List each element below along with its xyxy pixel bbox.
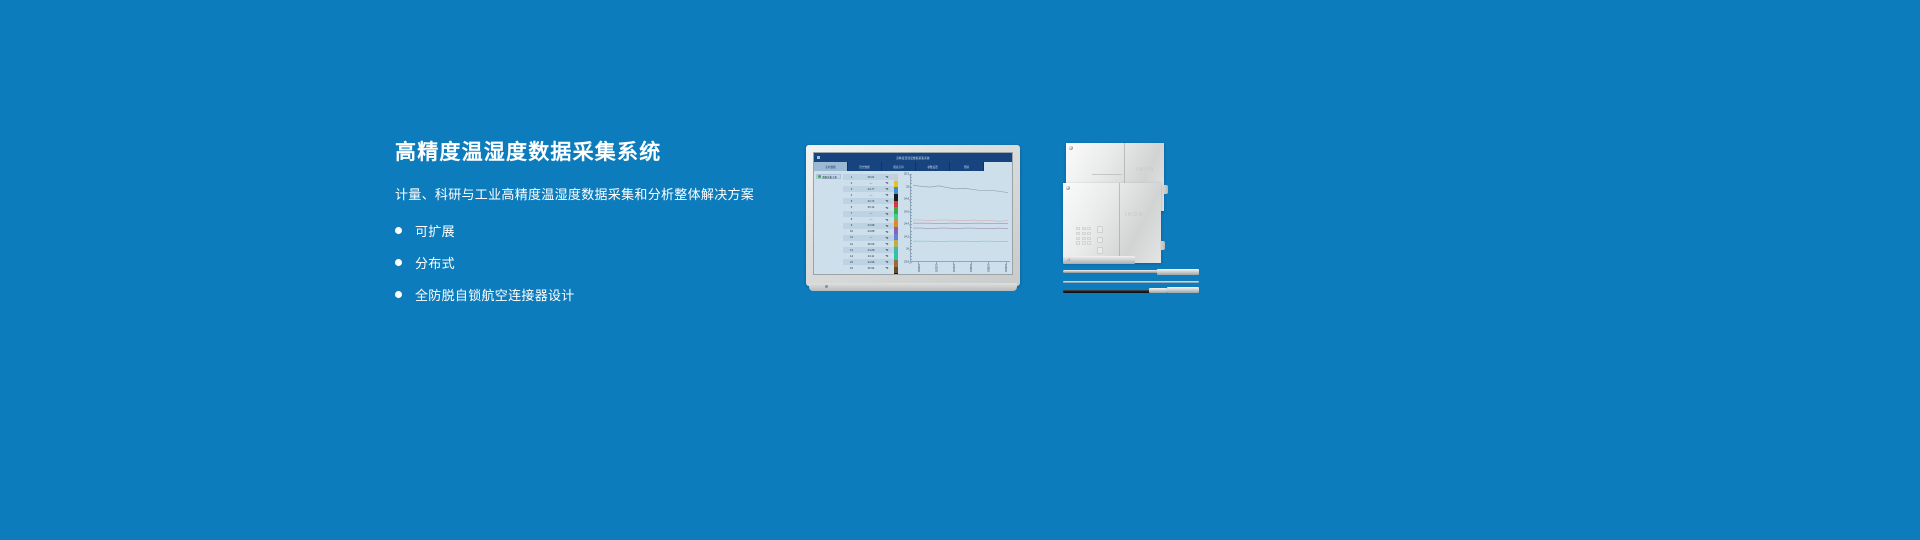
etch-line <box>1092 174 1122 175</box>
cell-value: 25.94 <box>860 267 882 270</box>
cell-channel: 11 <box>843 236 860 239</box>
cell-channel: 15 <box>843 261 860 264</box>
x-tick-label: 10:24:00 <box>952 264 955 272</box>
cell-value: --- <box>860 212 882 215</box>
keypad-key <box>1082 232 1086 235</box>
keypad-key <box>1076 241 1080 244</box>
probe-cable <box>1063 290 1153 293</box>
cell-unit: ℃ <box>882 187 892 191</box>
status-led-icon <box>818 175 821 178</box>
x-tick-label: 10:26:00 <box>969 264 972 272</box>
keypad-key <box>1087 227 1091 230</box>
mounting-plate <box>1063 256 1135 264</box>
cell-channel: 12 <box>843 243 860 246</box>
app-window-title: 高精度温湿度数据采集系统 <box>814 156 1012 160</box>
bullet-label: 分布式 <box>415 253 455 272</box>
sensor-probe-group <box>1063 256 1199 298</box>
screw-icon <box>1066 186 1070 190</box>
cell-channel: 6 <box>843 206 860 209</box>
monitor-screen: 高精度温湿度数据采集系统 实时数据 历史数据 报表打印 参数设置 帮助 数据采集… <box>813 152 1013 275</box>
monitor-bezel: 高精度温湿度数据采集系统 实时数据 历史数据 报表打印 参数设置 帮助 数据采集… <box>806 145 1020 286</box>
cell-value: 24.88 <box>860 230 882 233</box>
brand-label: INON <box>1136 167 1155 173</box>
monitor-base <box>809 283 1017 291</box>
connector-port <box>1163 185 1168 194</box>
cell-unit: ℃ <box>882 181 892 185</box>
cell-unit: ℃ <box>882 206 892 210</box>
tab-realtime-data[interactable]: 实时数据 <box>814 162 848 171</box>
hero-text-block: 高精度温湿度数据采集系统 计量、科研与工业高精度温湿度数据采集和分析整体解决方案… <box>395 140 795 318</box>
channel-data-table: 125.01℃2---℃324.77℃4---℃524.72℃625.14℃7-… <box>843 171 894 275</box>
x-tick-label: 10:20:00 <box>917 264 920 272</box>
y-tick-label: 25.2 <box>904 173 909 176</box>
cell-value: --- <box>860 236 882 239</box>
cell-channel: 4 <box>843 194 860 197</box>
port-slot <box>1097 237 1103 244</box>
y-tick-label: 24 <box>906 248 909 251</box>
keypad-key <box>1082 227 1086 230</box>
list-item: 全防脱自锁航空连接器设计 <box>395 286 795 303</box>
cell-channel: 9 <box>843 224 860 227</box>
panel-seam <box>1119 183 1120 263</box>
y-tick-label: 23.8 <box>904 261 909 264</box>
device-node[interactable]: 数据采集主机 <box>816 174 841 179</box>
cell-value: 25.14 <box>860 206 882 209</box>
tab-report-print[interactable]: 报表打印 <box>882 162 916 171</box>
y-tick-label: 25 <box>906 185 909 188</box>
bullet-dot-icon <box>395 259 402 266</box>
banner-stage: 高精度温湿度数据采集系统 计量、科研与工业高精度温湿度数据采集和分析整体解决方案… <box>0 0 1920 540</box>
cell-channel: 13 <box>843 249 860 252</box>
cell-channel: 10 <box>843 230 860 233</box>
chart-plot-area <box>911 174 1010 262</box>
cell-channel: 2 <box>843 182 860 185</box>
chart-line-ch6 <box>913 223 1008 224</box>
cell-unit: ℃ <box>882 218 892 222</box>
cell-channel: 14 <box>843 255 860 258</box>
acquisition-unit-front: INON <box>1063 183 1161 263</box>
cell-channel: 1 <box>843 176 860 179</box>
probe-ferrule <box>1149 288 1167 293</box>
x-tick-label: 10:22:00 <box>934 264 937 272</box>
x-tick-label: 10:28:00 <box>987 264 990 272</box>
probe-handle <box>1157 269 1199 275</box>
cell-unit: ℃ <box>882 212 892 216</box>
cell-channel: 8 <box>843 218 860 221</box>
cell-unit: ℃ <box>882 193 892 197</box>
cell-value: --- <box>860 218 882 221</box>
cell-channel: 3 <box>843 188 860 191</box>
x-tick-label: 10:30:00 <box>1004 264 1007 272</box>
cell-channel: 7 <box>843 212 860 215</box>
page-subtitle: 计量、科研与工业高精度温湿度数据采集和分析整体解决方案 <box>395 184 795 203</box>
power-led-icon <box>825 285 828 288</box>
probe-handle <box>1167 287 1199 293</box>
y-tick-label: 24.8 <box>904 198 909 201</box>
chart-series-svg <box>911 174 1010 261</box>
chart-line-ch1 <box>913 185 1008 192</box>
bullet-label: 可扩展 <box>415 221 455 240</box>
table-row[interactable]: 1625.94℃ <box>843 265 894 271</box>
keypad-key <box>1082 241 1086 244</box>
cell-value: --- <box>860 194 882 197</box>
tab-history-data[interactable]: 历史数据 <box>848 162 882 171</box>
port-slot <box>1097 247 1103 254</box>
bullet-dot-icon <box>395 291 402 298</box>
cell-value: 25.06 <box>860 243 882 246</box>
cell-value: 24.96 <box>860 261 882 264</box>
y-tick-label: 24.4 <box>904 223 909 226</box>
y-tick-label: 24.2 <box>904 235 909 238</box>
list-item: 分布式 <box>395 254 795 271</box>
cell-unit: ℃ <box>882 224 892 228</box>
app-tab-bar: 实时数据 历史数据 报表打印 参数设置 帮助 <box>814 162 1012 171</box>
keypad-key <box>1076 232 1080 235</box>
cell-unit: ℃ <box>882 254 892 258</box>
keypad-key <box>1082 237 1086 240</box>
brand-label: INON <box>1125 212 1144 218</box>
cell-value: 24.98 <box>860 224 882 227</box>
product-monitor: 高精度温湿度数据采集系统 实时数据 历史数据 报表打印 参数设置 帮助 数据采集… <box>806 145 1020 293</box>
keypad-key <box>1076 237 1080 240</box>
cell-unit: ℃ <box>882 230 892 234</box>
tab-help[interactable]: 帮助 <box>950 162 984 171</box>
list-item: 可扩展 <box>395 222 795 239</box>
cell-value: --- <box>860 182 882 185</box>
cell-value: 24.72 <box>860 200 882 203</box>
chart-line-ch12 <box>913 241 1008 242</box>
cell-unit: ℃ <box>882 199 892 203</box>
device-tree-panel: 数据采集主机 <box>814 171 843 275</box>
port-slot <box>1097 226 1103 233</box>
cell-value: 24.28 <box>860 249 882 252</box>
tab-bar-filler <box>984 162 1012 171</box>
keypad-key <box>1087 241 1091 244</box>
chart-y-axis: 25.22524.824.624.424.22423.8 <box>898 174 911 262</box>
cell-value: 25.01 <box>860 176 882 179</box>
chart-line-ch5 <box>913 220 1008 221</box>
keypad-key <box>1087 237 1091 240</box>
probe-rod <box>1063 270 1159 273</box>
bullet-label: 全防脱自锁航空连接器设计 <box>415 285 575 304</box>
trend-chart: 25.22524.824.624.424.22423.8 10:20:0010:… <box>898 174 1010 274</box>
keypad-grid <box>1076 227 1091 245</box>
bullet-dot-icon <box>395 227 402 234</box>
cell-unit: ℃ <box>882 260 892 264</box>
app-body: 数据采集主机 125.01℃2---℃324.77℃4---℃524.72℃62… <box>814 171 1012 275</box>
y-tick-label: 24.6 <box>904 210 909 213</box>
cell-channel: 5 <box>843 200 860 203</box>
cell-unit: ℃ <box>882 248 892 252</box>
port-column <box>1097 226 1103 254</box>
tab-parameter-settings[interactable]: 参数设置 <box>916 162 950 171</box>
cell-value: 24.77 <box>860 188 882 191</box>
keypad-key <box>1076 227 1080 230</box>
feature-bullet-list: 可扩展 分布式 全防脱自锁航空连接器设计 <box>395 222 795 303</box>
chart-x-axis: 10:20:0010:22:0010:24:0010:26:0010:28:00… <box>911 263 1010 274</box>
chart-line-ch9 <box>913 228 1008 229</box>
connector-port <box>1160 241 1165 250</box>
cell-unit: ℃ <box>882 236 892 240</box>
keypad-key <box>1087 232 1091 235</box>
cell-unit: ℃ <box>882 242 892 246</box>
screw-icon <box>1069 146 1073 150</box>
device-node-label: 数据采集主机 <box>823 175 837 179</box>
cell-unit: ℃ <box>882 266 892 270</box>
trend-chart-panel: 25.22524.824.624.424.22423.8 10:20:0010:… <box>898 171 1012 275</box>
page-title: 高精度温湿度数据采集系统 <box>395 140 795 165</box>
cell-unit: ℃ <box>882 175 892 179</box>
app-titlebar: 高精度温湿度数据采集系统 <box>814 153 1012 162</box>
screw-icon <box>1067 258 1070 261</box>
cell-channel: 16 <box>843 267 860 270</box>
cell-value: 24.11 <box>860 255 882 258</box>
probe-rod-thin <box>1063 281 1199 283</box>
